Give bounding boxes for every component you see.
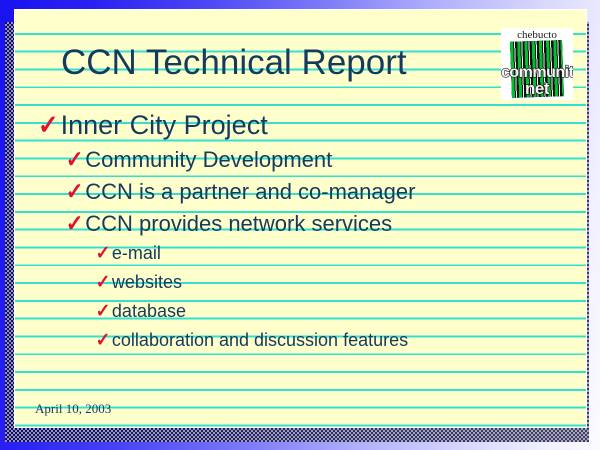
bullet-item: ✓Community Development [65, 143, 586, 175]
slide-content: CCN Technical Report chebucto community … [15, 10, 586, 427]
bullet-text: collaboration and discussion features [112, 326, 408, 355]
checkmark-icon: ✓ [66, 207, 84, 239]
presentation-viewport: CCN Technical Report chebucto community … [0, 0, 600, 450]
checkmark-icon: ✓ [96, 297, 111, 326]
bullet-text: e-mail [112, 239, 161, 268]
bullet-text: websites [112, 268, 182, 297]
bullet-item: ✓CCN provides network services [65, 207, 586, 239]
bullet-item: ✓CCN is a partner and co-manager [65, 175, 586, 207]
bullet-text: database [112, 297, 186, 326]
bullet-item: ✓database [95, 297, 586, 326]
checkmark-icon: ✓ [96, 326, 111, 355]
chebucto-community-net-logo: chebucto community net [501, 28, 573, 100]
bullet-list: ✓Inner City Project✓Community Developmen… [15, 108, 586, 355]
slide-title: CCN Technical Report [61, 42, 481, 84]
bullet-item: ✓websites [95, 268, 586, 297]
bullet-text: Community Development [85, 144, 332, 176]
checkmark-icon: ✓ [96, 268, 111, 297]
bullet-item: ✓e-mail [95, 239, 586, 268]
checkmark-icon: ✓ [38, 108, 59, 143]
slide-footer-date: April 10, 2003 [35, 401, 111, 417]
logo-word-net: net [501, 80, 573, 98]
logo-word-chebucto: chebucto [501, 29, 573, 41]
bullet-item: ✓Inner City Project [37, 108, 586, 143]
slide-canvas[interactable]: CCN Technical Report chebucto community … [14, 9, 587, 428]
checkmark-icon: ✓ [66, 143, 84, 175]
checkmark-icon: ✓ [96, 239, 111, 268]
bullet-item: ✓collaboration and discussion features [95, 326, 586, 355]
checkmark-icon: ✓ [66, 175, 84, 207]
bullet-text: Inner City Project [61, 108, 268, 143]
bullet-text: CCN provides network services [85, 208, 392, 240]
bullet-text: CCN is a partner and co-manager [85, 176, 415, 208]
